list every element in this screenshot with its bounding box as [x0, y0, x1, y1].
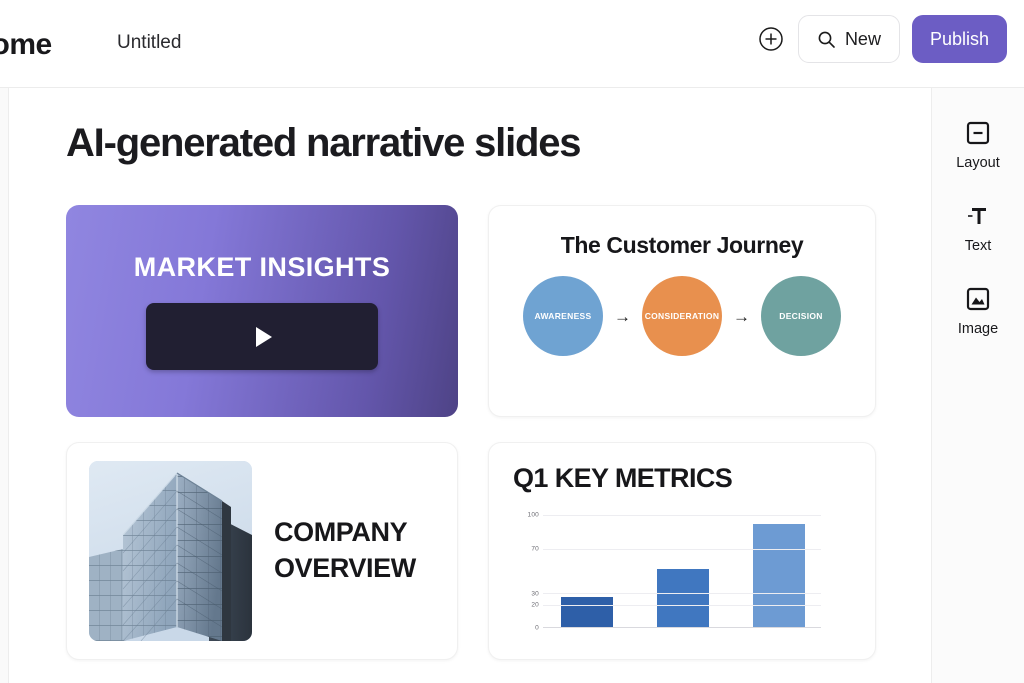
chart-bar [561, 597, 613, 627]
journey-arrow-2: → [733, 308, 750, 325]
card-q1-key-metrics[interactable]: Q1 KEY METRICS 1007030200 [488, 442, 876, 660]
document-title[interactable]: Untitled [117, 32, 181, 54]
slide-canvas[interactable]: AI-generated narrative slides MARKET INS… [9, 88, 931, 683]
text-icon [963, 201, 993, 231]
add-button[interactable] [756, 24, 786, 54]
tome-logo[interactable]: tome [0, 28, 52, 62]
chart-gridline [543, 549, 821, 550]
customer-journey-title: The Customer Journey [489, 232, 875, 259]
bar-chart: 1007030200 [513, 506, 851, 628]
plus-circle-icon [758, 26, 784, 52]
metrics-title: Q1 KEY METRICS [513, 463, 851, 494]
sidebar-item-image-label: Image [958, 321, 998, 337]
market-insights-title: MARKET INSIGHTS [134, 252, 391, 283]
chart-y-tick: 100 [528, 512, 539, 519]
company-overview-title: COMPANY OVERVIEW [274, 515, 416, 586]
sidebar-item-image[interactable]: Image [941, 280, 1015, 341]
glass-office-building-photo [89, 461, 252, 641]
left-rail [0, 88, 9, 683]
image-icon [963, 284, 993, 314]
card-market-insights[interactable]: MARKET INSIGHTS [66, 205, 458, 417]
chart-y-tick: 30 [531, 591, 539, 598]
chart-plot-area [543, 506, 821, 628]
journey-steps: AWARENESS → CONSIDERATION → DECISION [489, 276, 875, 356]
sidebar-item-layout-label: Layout [956, 155, 1000, 171]
journey-arrow-1: → [614, 308, 631, 325]
sidebar-item-layout[interactable]: Layout [941, 114, 1015, 175]
chart-bar [753, 524, 805, 627]
chart-y-axis: 1007030200 [513, 506, 539, 628]
new-button[interactable]: New [798, 15, 900, 63]
chart-gridline [543, 593, 821, 594]
journey-step-consideration: CONSIDERATION [642, 276, 722, 356]
play-triangle-icon[interactable] [256, 327, 272, 347]
building-illustration [89, 461, 252, 641]
card-customer-journey[interactable]: The Customer Journey AWARENESS → CONSIDE… [488, 205, 876, 417]
journey-step-awareness: AWARENESS [523, 276, 603, 356]
app-header: tome Untitled New Publish [0, 0, 1024, 88]
chart-y-tick: 0 [535, 625, 539, 632]
video-player[interactable] [146, 303, 378, 370]
page-title: AI-generated narrative slides [66, 121, 580, 166]
chart-gridline [543, 605, 821, 606]
sidebar-item-text[interactable]: Text [941, 197, 1015, 258]
sidebar-item-text-label: Text [965, 238, 992, 254]
chart-y-tick: 20 [531, 602, 539, 609]
layout-icon [963, 118, 993, 148]
chart-bars [543, 506, 821, 627]
app-root: tome Untitled New Publish [0, 0, 1024, 683]
new-button-label: New [845, 29, 881, 50]
tools-sidebar: Layout Text [931, 88, 1024, 683]
search-icon [817, 30, 836, 49]
app-body: AI-generated narrative slides MARKET INS… [0, 88, 1024, 683]
chart-bar [657, 569, 709, 627]
company-overview-line2: OVERVIEW [274, 551, 416, 587]
card-company-overview[interactable]: COMPANY OVERVIEW [66, 442, 458, 660]
journey-step-decision: DECISION [761, 276, 841, 356]
publish-button[interactable]: Publish [912, 15, 1007, 63]
company-overview-line1: COMPANY [274, 515, 416, 551]
header-actions: New Publish [756, 15, 1007, 63]
chart-gridline [543, 515, 821, 516]
slide-grid: MARKET INSIGHTS The Customer Journey AWA… [66, 205, 876, 660]
chart-y-tick: 70 [531, 545, 539, 552]
